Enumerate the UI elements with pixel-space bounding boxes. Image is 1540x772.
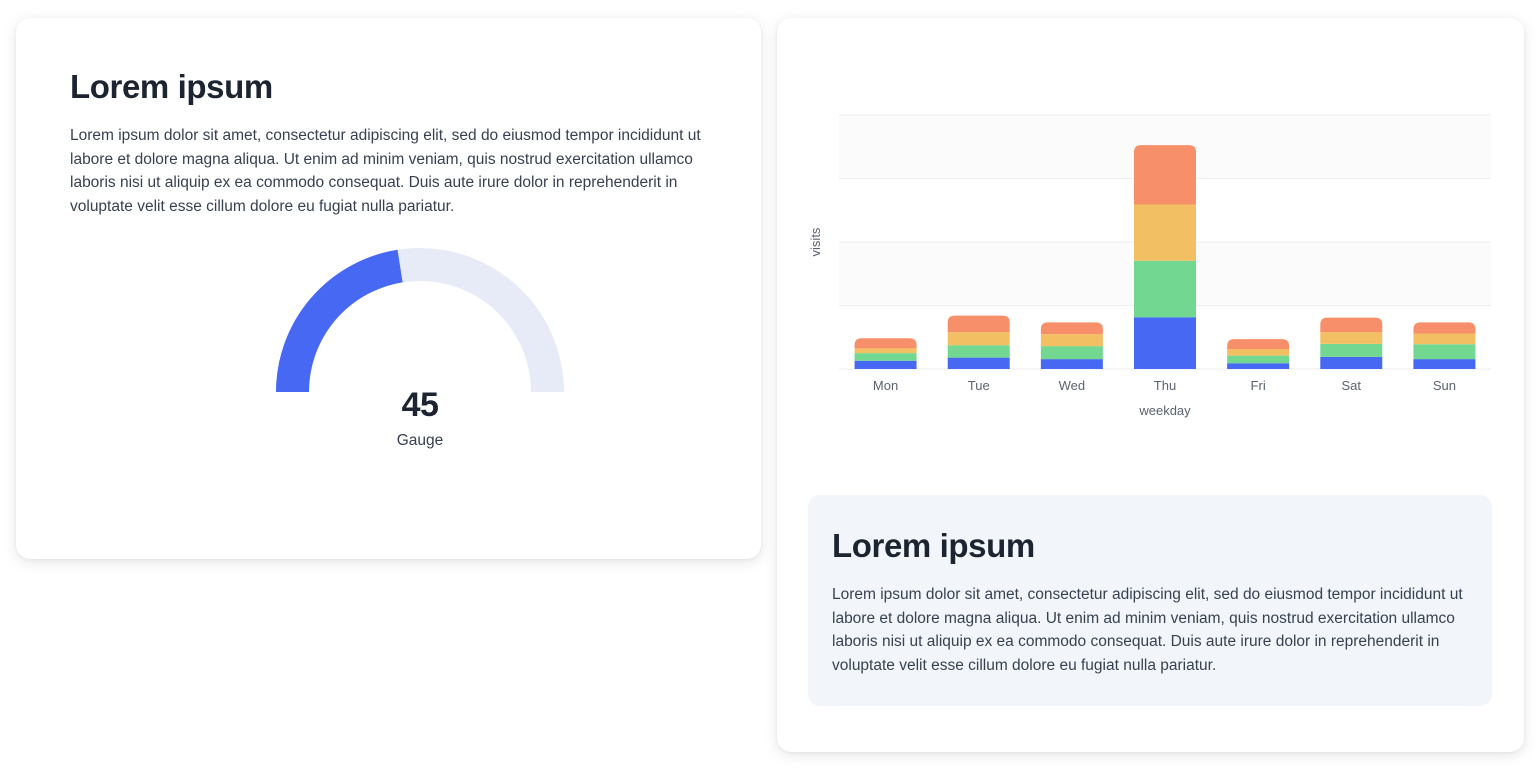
- chart-bar-segment[interactable]: [1041, 346, 1103, 359]
- stacked-bar-chart: MonTueWedThuFriSatSun weekday visits: [802, 80, 1502, 430]
- chart-bar-segment[interactable]: [1320, 344, 1382, 357]
- gauge-value-arc: [293, 266, 401, 392]
- dashboard-page: Lorem ipsum Lorem ipsum dolor sit amet, …: [0, 0, 1540, 772]
- chart-bar-segment[interactable]: [948, 345, 1010, 357]
- chart-bar-segment[interactable]: [855, 338, 917, 348]
- chart-bar-segment[interactable]: [1227, 349, 1289, 356]
- chart-x-tick-label: Thu: [1154, 378, 1176, 393]
- info-panel-title: Lorem ipsum: [832, 527, 1466, 565]
- gauge-card: Lorem ipsum Lorem ipsum dolor sit amet, …: [16, 18, 761, 559]
- chart-bar-segment[interactable]: [948, 316, 1010, 333]
- chart-x-tick-label: Wed: [1059, 378, 1086, 393]
- chart-bar-segment[interactable]: [1413, 359, 1475, 369]
- chart-x-tick-label: Fri: [1251, 378, 1266, 393]
- chart-card: MonTueWedThuFriSatSun weekday visits Lor…: [777, 18, 1524, 752]
- chart-bar-segment[interactable]: [1413, 333, 1475, 344]
- chart-y-axis-label: visits: [808, 227, 823, 256]
- chart-bar-segment[interactable]: [1134, 205, 1196, 261]
- chart-bar-segment[interactable]: [948, 358, 1010, 369]
- chart-bar-segment[interactable]: [855, 361, 917, 369]
- chart-bar-segment[interactable]: [1320, 357, 1382, 369]
- gauge-card-text: Lorem ipsum Lorem ipsum dolor sit amet, …: [70, 68, 710, 218]
- gauge-title-label: Gauge: [70, 432, 770, 450]
- info-panel-text: Lorem ipsum Lorem ipsum dolor sit amet, …: [832, 527, 1466, 677]
- chart-bar-segment[interactable]: [1227, 356, 1289, 364]
- gauge-value-text: 45: [70, 386, 770, 425]
- chart-bar-segment[interactable]: [1134, 145, 1196, 204]
- page-title: Lorem ipsum: [70, 68, 710, 106]
- chart-x-tick-labels: MonTueWedThuFriSatSun: [873, 378, 1456, 393]
- chart-x-axis-label: weekday: [1138, 403, 1191, 418]
- chart-bar-segment[interactable]: [1041, 359, 1103, 369]
- info-panel: Lorem ipsum Lorem ipsum dolor sit amet, …: [808, 495, 1492, 706]
- info-panel-paragraph: Lorem ipsum dolor sit amet, consectetur …: [832, 583, 1464, 677]
- chart-bar-segment[interactable]: [1134, 317, 1196, 369]
- chart-bar-segment[interactable]: [1413, 322, 1475, 333]
- chart-bar-segment[interactable]: [1134, 261, 1196, 318]
- gauge-chart: 45 Gauge: [70, 248, 770, 478]
- stacked-bar-chart-svg: MonTueWedThuFriSatSun weekday visits: [802, 80, 1502, 430]
- chart-bar-segment[interactable]: [1227, 363, 1289, 369]
- chart-bar-segment[interactable]: [1041, 322, 1103, 334]
- chart-x-tick-label: Mon: [873, 378, 898, 393]
- chart-bar-segment[interactable]: [1413, 344, 1475, 359]
- chart-bar-segment[interactable]: [855, 353, 917, 361]
- chart-bar-segment[interactable]: [948, 332, 1010, 345]
- gauge-card-paragraph: Lorem ipsum dolor sit amet, consectetur …: [70, 124, 705, 218]
- chart-bar-segment[interactable]: [1320, 332, 1382, 344]
- chart-bar-segment[interactable]: [855, 348, 917, 353]
- chart-x-tick-label: Tue: [968, 378, 990, 393]
- chart-bar-segment[interactable]: [1227, 339, 1289, 349]
- chart-bar-segment[interactable]: [1320, 318, 1382, 333]
- chart-x-tick-label: Sun: [1433, 378, 1456, 393]
- chart-bar-segment[interactable]: [1041, 334, 1103, 346]
- chart-x-tick-label: Sat: [1342, 378, 1362, 393]
